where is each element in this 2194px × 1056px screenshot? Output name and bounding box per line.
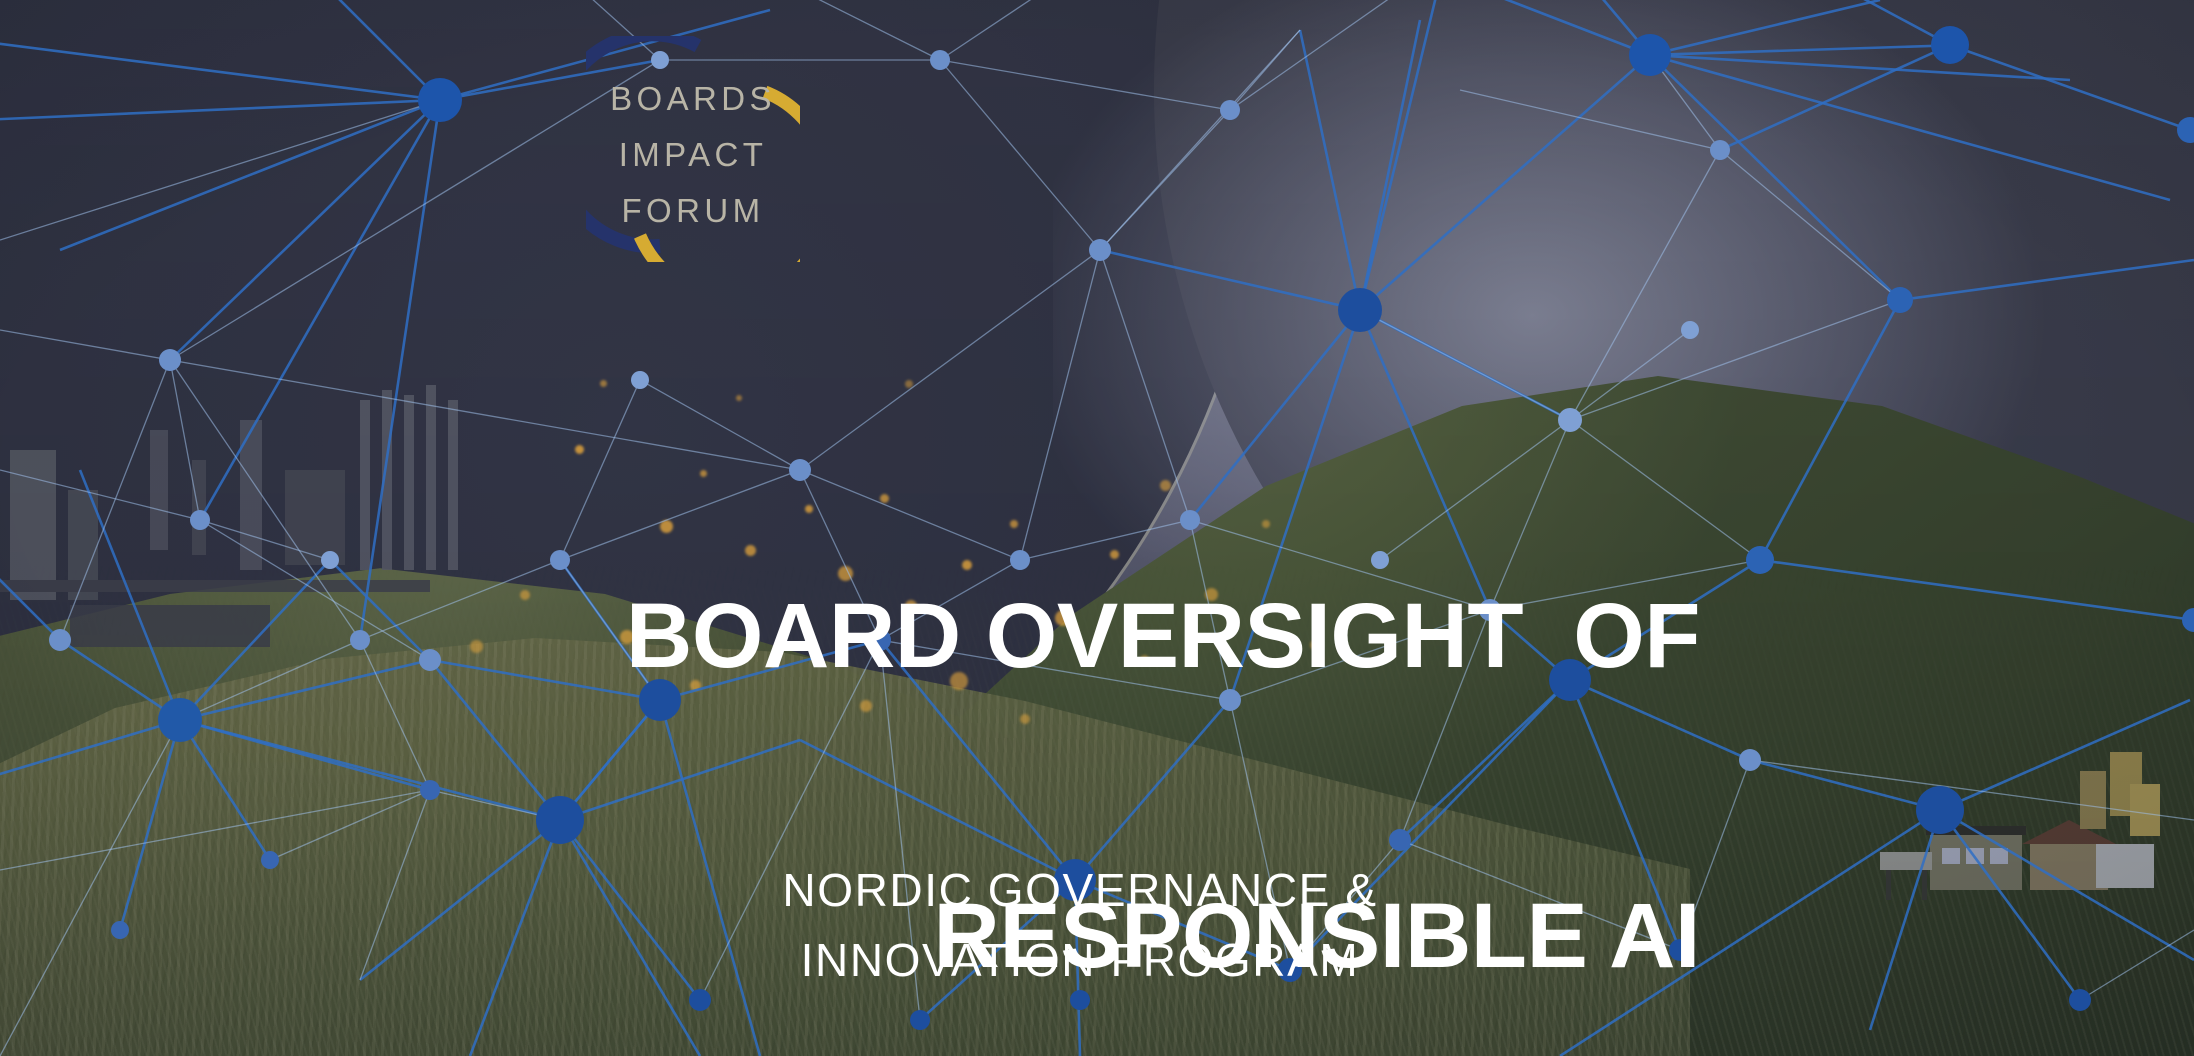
page-subtitle: NORDIC GOVERNANCE & INNOVATION PROGRAM (0, 855, 2160, 995)
subtitle-line-1: NORDIC GOVERNANCE & (0, 855, 2160, 925)
subtitle-line-2: INNOVATION PROGRAM (0, 925, 2160, 995)
logo-line-2: IMPACT (586, 136, 800, 174)
logo-line-3: FORUM (586, 192, 800, 230)
boards-impact-forum-logo: BOARDS IMPACT FORUM (586, 36, 800, 262)
headline-line-1: BOARD OVERSIGHT OF (0, 586, 1700, 686)
logo-line-1: BOARDS (586, 80, 800, 118)
title-slide: BOARDS IMPACT FORUM BOARD OVERSIGHT OF R… (0, 0, 2194, 1056)
